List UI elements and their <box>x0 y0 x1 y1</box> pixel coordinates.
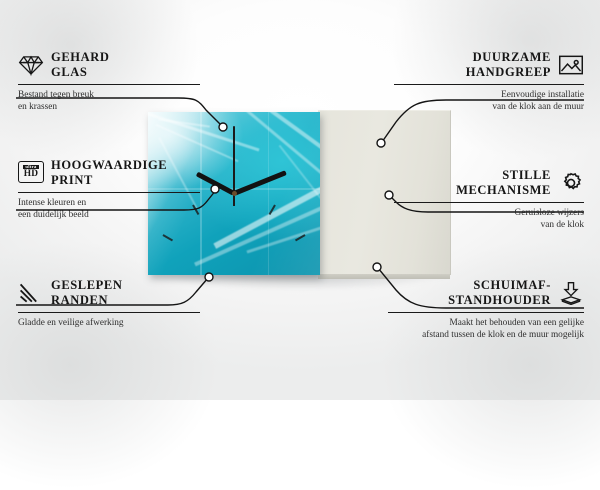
clock-center-cap <box>232 191 237 196</box>
callout-title: STILLEMECHANISME <box>456 168 551 199</box>
callout-description: Geruisloze wijzersvan de klok <box>394 207 584 232</box>
callout-description: Eenvoudige installatievan de klok aan de… <box>394 89 584 114</box>
callout-gehard-glas: GEHARDGLAS Bestand tegen breuken krassen <box>18 50 200 114</box>
down-arrow-spacer-icon <box>558 281 584 305</box>
callout-header: DUURZAMEHANDGREEP <box>394 50 584 81</box>
callout-rule <box>18 192 200 193</box>
gear-icon <box>558 171 584 195</box>
hour-marker <box>269 204 276 215</box>
callout-stille-mechanisme: STILLEMECHANISME Geruisloze wijzersvan d… <box>394 168 584 232</box>
hour-marker <box>152 275 164 276</box>
hour-marker <box>304 275 316 276</box>
callout-title: HOOGWAARDIGEPRINT <box>51 158 167 189</box>
callout-title: SCHUIMAF-STANDHOUDER <box>448 278 551 309</box>
hour-marker <box>162 234 173 241</box>
callout-title: DUURZAMEHANDGREEP <box>466 50 551 81</box>
callout-schuimaf-standhouder: SCHUIMAF-STANDHOUDER Maakt het behouden … <box>388 278 584 342</box>
callout-header: SCHUIMAF-STANDHOUDER <box>388 278 584 309</box>
callout-description: Gladde en veilige afwerking <box>18 317 200 330</box>
callout-title: GESLEPENRANDEN <box>51 278 123 309</box>
callout-rule <box>388 312 584 313</box>
ultra-hd-icon: ultra HD <box>18 161 44 185</box>
picture-frame-icon <box>558 53 584 77</box>
hd-badge: ultra HD <box>18 161 44 183</box>
callout-duurzame-handgreep: DUURZAMEHANDGREEP Eenvoudige installatie… <box>394 50 584 114</box>
callout-rule <box>394 202 584 203</box>
hour-marker <box>295 234 306 241</box>
callout-header: GESLEPENRANDEN <box>18 278 200 309</box>
callout-description: Maakt het behouden van een gelijkeafstan… <box>388 317 584 342</box>
callout-title: GEHARDGLAS <box>51 50 109 81</box>
callout-header: STILLEMECHANISME <box>394 168 584 199</box>
callout-rule <box>18 312 200 313</box>
callout-rule <box>18 84 200 85</box>
callout-description: Bestand tegen breuken krassen <box>18 89 200 114</box>
callout-header: ultra HD HOOGWAARDIGEPRINT <box>18 158 200 189</box>
clock-second-hand <box>233 126 235 200</box>
diamond-icon <box>18 53 44 77</box>
callout-description: Intense kleuren eneen duidelijk beeld <box>18 197 200 222</box>
product-infographic: GEHARDGLAS Bestand tegen breuken krassen… <box>0 0 600 400</box>
callout-geslepen-randen: GESLEPENRANDEN Gladde en veilige afwerki… <box>18 278 200 329</box>
callout-header: GEHARDGLAS <box>18 50 200 81</box>
beveled-edges-icon <box>18 281 44 305</box>
callout-hoogwaardige-print: ultra HD HOOGWAARDIGEPRINT Intense kleur… <box>18 158 200 222</box>
callout-rule <box>394 84 584 85</box>
